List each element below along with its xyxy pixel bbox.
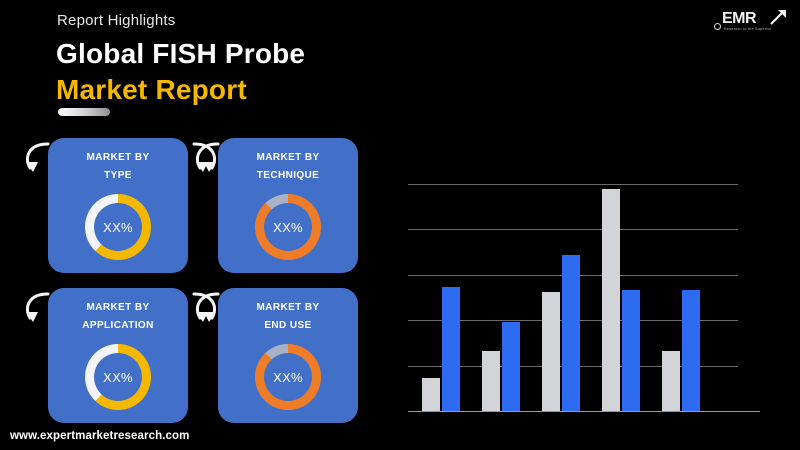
chart-bar — [422, 378, 440, 411]
card-market-by-type[interactable]: MARKET BY TYPE XX% — [48, 138, 188, 273]
donut-value-label: XX% — [273, 220, 303, 235]
donut-value-label: XX% — [103, 370, 133, 385]
chart-bar — [602, 189, 620, 411]
growth-arrow-icon — [768, 8, 788, 26]
report-highlights-slide: Report Highlights Global FISH Probe Mark… — [0, 0, 800, 450]
logo-wordmark: EMR — [722, 10, 756, 28]
chart-bar — [502, 322, 520, 411]
donut-chart: XX% — [85, 194, 151, 260]
donut-center: XX% — [94, 203, 142, 251]
card-market-by-end-use[interactable]: MARKET BY END USE XX% — [218, 288, 358, 423]
card-title-line2: APPLICATION — [48, 317, 188, 335]
logo-tagline: Research to the Superior — [724, 27, 771, 31]
footer-website[interactable]: www.expertmarketresearch.com — [10, 430, 189, 442]
chart-bar — [442, 287, 460, 411]
card-title-line1: MARKET BY — [48, 149, 188, 167]
chart-bar — [562, 255, 580, 411]
page-title-line1: Global FISH Probe — [56, 38, 305, 70]
card-market-by-application[interactable]: MARKET BY APPLICATION XX% — [48, 288, 188, 423]
chart-bar — [682, 290, 700, 411]
logo-circle-icon — [714, 23, 721, 30]
chart-bar — [542, 292, 560, 411]
donut-chart: XX% — [255, 194, 321, 260]
donut-center: XX% — [264, 353, 312, 401]
card-title: MARKET BY END USE — [218, 299, 358, 335]
chart-gridline — [408, 229, 738, 230]
donut-chart: XX% — [255, 344, 321, 410]
chart-gridline — [408, 184, 738, 185]
title-underline-divider — [58, 108, 110, 116]
page-title-line2: Market Report — [56, 74, 247, 106]
loop-arrow-icon — [186, 290, 220, 330]
card-market-by-technique[interactable]: MARKET BY TECHNIQUE XX% — [218, 138, 358, 273]
market-bar-chart — [408, 138, 760, 418]
emr-logo[interactable]: EMR Research to the Superior — [712, 8, 788, 40]
card-title-line1: MARKET BY — [48, 299, 188, 317]
eyebrow-label: Report Highlights — [57, 12, 175, 29]
card-title: MARKET BY APPLICATION — [48, 299, 188, 335]
chart-bar — [482, 351, 500, 412]
card-title-line1: MARKET BY — [218, 299, 358, 317]
donut-center: XX% — [264, 203, 312, 251]
donut-chart: XX% — [85, 344, 151, 410]
chart-bar — [622, 290, 640, 411]
card-title: MARKET BY TECHNIQUE — [218, 149, 358, 185]
donut-value-label: XX% — [103, 220, 133, 235]
chart-x-axis — [408, 411, 760, 412]
donut-value-label: XX% — [273, 370, 303, 385]
card-title-line1: MARKET BY — [218, 149, 358, 167]
loop-arrow-icon — [186, 140, 220, 180]
card-title-line2: TYPE — [48, 167, 188, 185]
donut-center: XX% — [94, 353, 142, 401]
card-title: MARKET BY TYPE — [48, 149, 188, 185]
card-title-line2: END USE — [218, 317, 358, 335]
chart-bar — [662, 351, 680, 412]
card-title-line2: TECHNIQUE — [218, 167, 358, 185]
